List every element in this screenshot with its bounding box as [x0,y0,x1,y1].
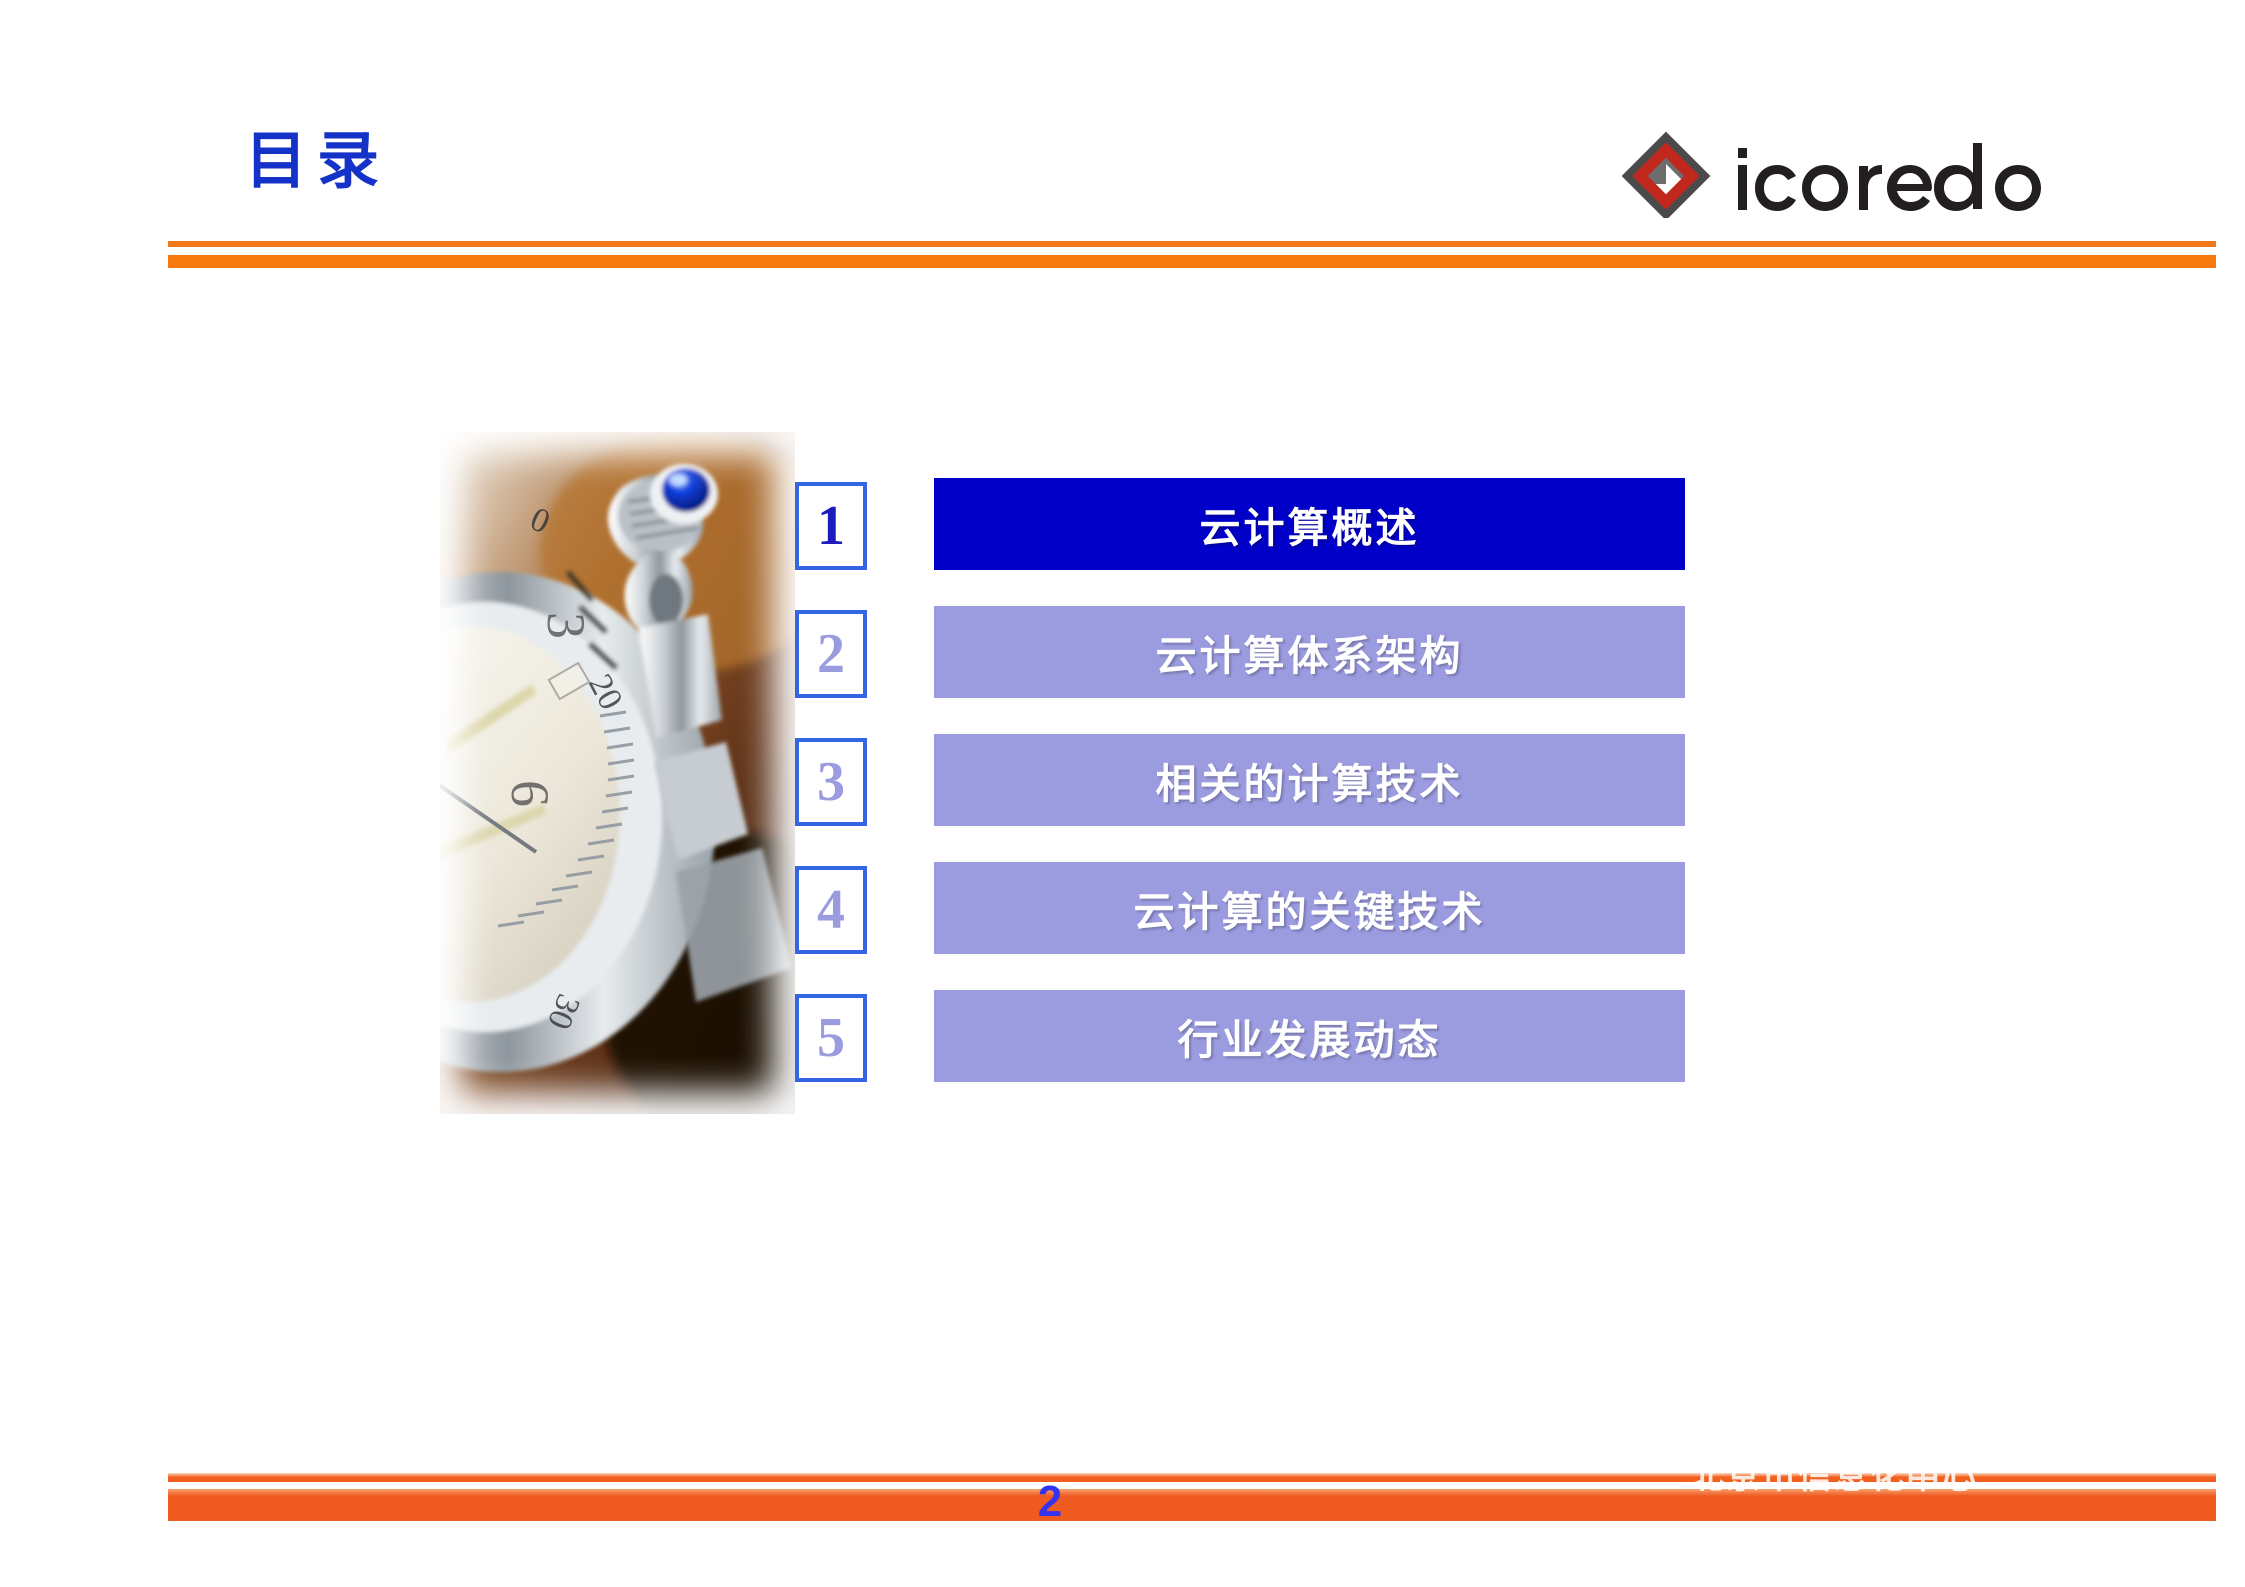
logo-wordmark [1738,143,2041,211]
toc-item-3[interactable]: 3 相关的计算技术 [795,734,1685,826]
toc-item-1[interactable]: 1 云计算概述 [795,478,1685,570]
toc-number-4: 4 [817,882,845,938]
toc-label-2: 云计算体系架构 [1156,622,1464,682]
svg-text:3: 3 [536,612,596,639]
toc-number-2: 2 [817,626,845,682]
footer-note: 北京市信息化中心 [1690,1449,1978,1498]
toc-item-5[interactable]: 5 行业发展动态 [795,990,1685,1082]
watch-closeup-photo: 20 30 0 3 6 [440,432,795,1114]
toc-number-1: 1 [817,498,845,554]
toc-bar-3[interactable]: 相关的计算技术 [934,734,1685,826]
toc-number-box-1: 1 [795,482,867,570]
toc-bar-5[interactable]: 行业发展动态 [934,990,1685,1082]
toc-label-3: 相关的计算技术 [1156,750,1464,810]
icoredo-logo [1620,118,2100,218]
slide-canvas: 目录 [0,0,2245,1587]
header-rule-thin [168,241,2216,247]
toc-bar-2[interactable]: 云计算体系架构 [934,606,1685,698]
toc-label-5: 行业发展动态 [1178,1006,1442,1066]
diamond-mark-icon [1628,138,1704,214]
svg-text:6: 6 [500,780,560,807]
toc-label-4: 云计算的关键技术 [1134,878,1486,938]
header-rule-thick [168,255,2216,268]
toc-number-box-4: 4 [795,866,867,954]
page-title: 目录 [245,131,389,193]
toc-number-box-5: 5 [795,994,867,1082]
toc-number-5: 5 [817,1010,845,1066]
toc-number-box-3: 3 [795,738,867,826]
toc-item-2[interactable]: 2 云计算体系架构 [795,606,1685,698]
toc-number-box-2: 2 [795,610,867,698]
toc-bar-1[interactable]: 云计算概述 [934,478,1685,570]
toc-label-1: 云计算概述 [1200,494,1420,554]
toc-list: 1 云计算概述 2 云计算体系架构 3 相关的计算技术 4 [795,478,1685,1082]
page-number: 2 [1020,1480,1080,1524]
toc-item-4[interactable]: 4 云计算的关键技术 [795,862,1685,954]
toc-bar-4[interactable]: 云计算的关键技术 [934,862,1685,954]
toc-number-3: 3 [817,754,845,810]
